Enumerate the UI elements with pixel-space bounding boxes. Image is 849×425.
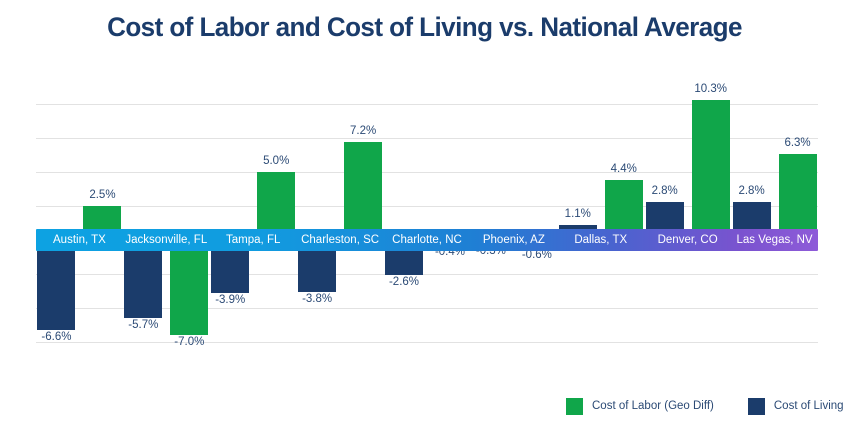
legend-swatch-icon-cost-of-labor xyxy=(566,398,583,415)
bar-group: -0.3%-0.6% xyxy=(470,65,557,377)
bar-cost-of-labor[interactable] xyxy=(692,100,730,240)
bar-value-label: -2.6% xyxy=(369,276,439,288)
category-label: Dallas, TX xyxy=(557,229,644,251)
legend-item-cost-of-living[interactable]: Cost of Living xyxy=(748,398,844,415)
bar-group: 1.1%4.4% xyxy=(557,65,644,377)
bar-group: -3.8%7.2% xyxy=(297,65,384,377)
bar-group: 2.8%6.3% xyxy=(731,65,818,377)
category-label: Jacksonville, FL xyxy=(123,229,210,251)
legend-item-cost-of-labor[interactable]: Cost of Labor (Geo Diff) xyxy=(566,398,714,415)
bar-value-label: 2.8% xyxy=(717,185,787,197)
chart-plot-area: -6.6%2.5%-5.7%-7.0%-3.9%5.0%-3.8%7.2%-2.… xyxy=(36,65,818,377)
page-title: Cost of Labor and Cost of Living vs. Nat… xyxy=(15,12,834,43)
bar-cost-of-living[interactable] xyxy=(124,240,162,318)
category-axis-band: Austin, TXJacksonville, FLTampa, FLCharl… xyxy=(36,229,818,251)
bar-cost-of-living[interactable] xyxy=(37,240,75,330)
bar-group: 2.8%10.3% xyxy=(644,65,731,377)
bar-value-label: -3.9% xyxy=(195,294,265,306)
category-label: Charlotte, NC xyxy=(384,229,471,251)
category-label: Las Vegas, NV xyxy=(731,229,818,251)
bar-groups: -6.6%2.5%-5.7%-7.0%-3.9%5.0%-3.8%7.2%-2.… xyxy=(36,65,818,377)
category-label: Tampa, FL xyxy=(210,229,297,251)
legend-label-cost-of-labor: Cost of Labor (Geo Diff) xyxy=(592,400,714,412)
bar-cost-of-labor[interactable] xyxy=(344,142,382,240)
bar-group: -3.9%5.0% xyxy=(210,65,297,377)
legend-swatch-icon-cost-of-living xyxy=(748,398,765,415)
bar-value-label: -6.6% xyxy=(21,331,91,343)
bar-value-label: 1.1% xyxy=(543,208,613,220)
bar-value-label: 6.3% xyxy=(763,137,833,149)
bar-group: -5.7%-7.0% xyxy=(123,65,210,377)
category-label: Austin, TX xyxy=(36,229,123,251)
category-label: Phoenix, AZ xyxy=(470,229,557,251)
bar-value-label: -5.7% xyxy=(108,319,178,331)
bar-value-label: 2.8% xyxy=(630,185,700,197)
category-label: Charleston, SC xyxy=(297,229,384,251)
category-label: Denver, CO xyxy=(644,229,731,251)
bar-group: -2.6%-0.4% xyxy=(384,65,471,377)
legend-label-cost-of-living: Cost of Living xyxy=(774,400,844,412)
bar-cost-of-labor[interactable] xyxy=(779,154,817,240)
chart-legend: Cost of Labor (Geo Diff) Cost of Living xyxy=(566,397,844,415)
bar-cost-of-labor[interactable] xyxy=(170,240,208,335)
bar-value-label: -3.8% xyxy=(282,293,352,305)
